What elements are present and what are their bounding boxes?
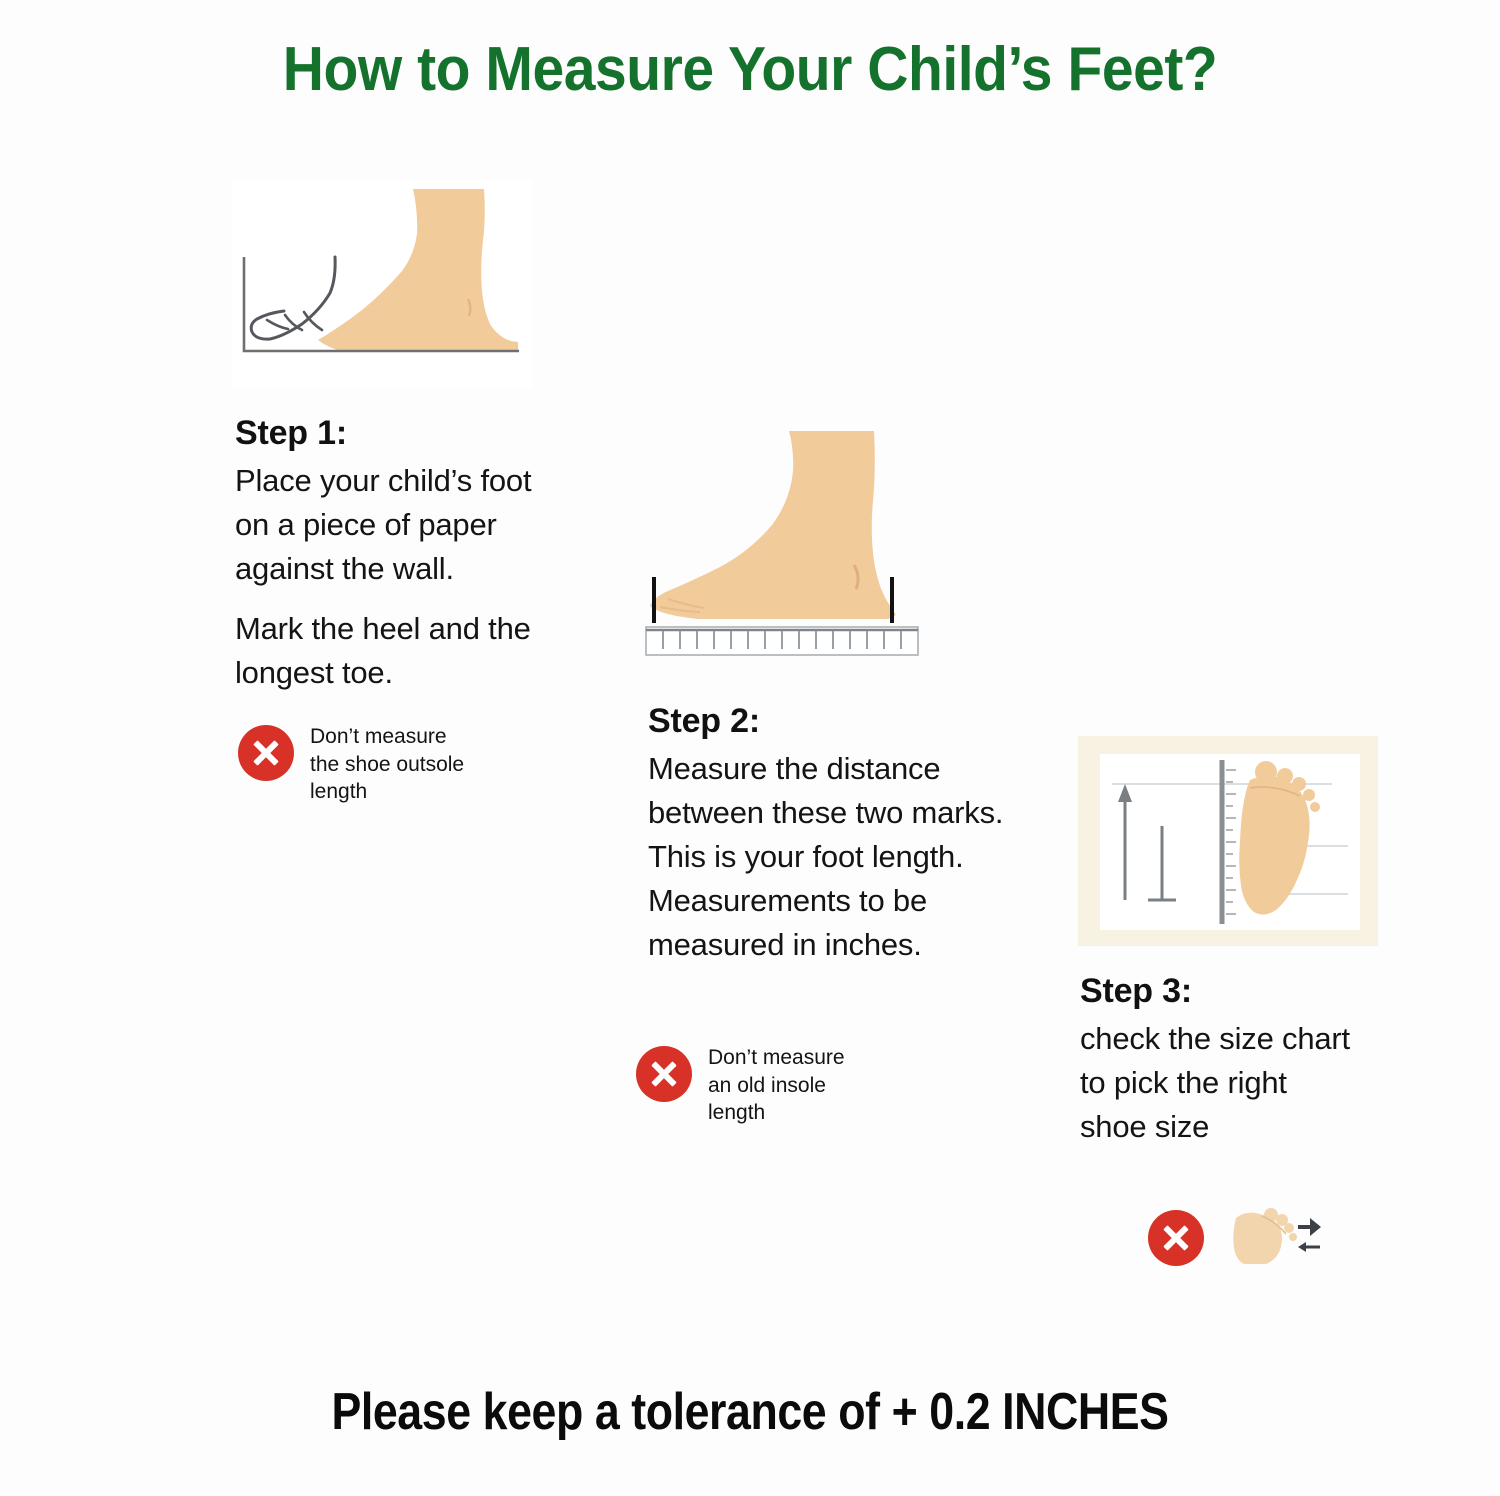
step-2-heading: Step 2:: [648, 702, 1088, 741]
red-x-circle-icon: [1148, 1210, 1204, 1266]
length-arrow-short: [1148, 826, 1176, 900]
step-1-heading: Step 1:: [235, 414, 555, 453]
step-2-warning-line-2: an old insole: [708, 1072, 845, 1100]
red-x-circle-icon: [636, 1046, 692, 1102]
step-2-line-5: measured in inches.: [648, 923, 1088, 967]
step-1-line-3: against the wall.: [235, 547, 555, 591]
tolerance-note: Please keep a tolerance of + 0.2 INCHES: [105, 1382, 1395, 1442]
step-2-body: Measure the distance between these two m…: [648, 747, 1088, 967]
step-2-warning-line-1: Don’t measure: [708, 1044, 845, 1072]
step-1-warning-line-1: Don’t measure: [310, 723, 464, 751]
step-2-block: Step 2: Measure the distance between the…: [648, 702, 1088, 967]
step-3-warning-glyphs: [1222, 1202, 1322, 1272]
foot-shape: [318, 189, 518, 351]
toe-3: [1292, 777, 1306, 791]
step-2-warning-line-3: length: [708, 1099, 845, 1127]
step-1-block: Step 1: Place your child’s foot on a pie…: [235, 414, 555, 695]
toe-2: [1277, 768, 1293, 784]
step-1-line-1: Place your child’s foot: [235, 459, 555, 503]
step-2-line-2: between these two marks.: [648, 791, 1088, 835]
step-1-line-5: longest toe.: [235, 651, 555, 695]
vertical-ruler-ticks: [1226, 770, 1236, 914]
step-1-warning: Don’t measure the shoe outsole length: [238, 723, 464, 806]
toe-4: [1303, 789, 1315, 801]
shoe-toe-detail-1: [267, 320, 288, 329]
size-guide-page: How to Measure Your Child’s Feet? Step 1…: [0, 0, 1500, 1496]
step-2-warning-text: Don’t measure an old insole length: [708, 1044, 845, 1127]
page-title: How to Measure Your Child’s Feet?: [60, 34, 1440, 105]
step-1-line-2: on a piece of paper: [235, 503, 555, 547]
foot-side-view-with-ruler-graphic: [638, 425, 938, 665]
toe-c: [1284, 1223, 1294, 1233]
toe-5: [1310, 802, 1320, 812]
footprint-squeeze-graphic: [1222, 1202, 1322, 1272]
step-3-body: check the size chart to pick the right s…: [1080, 1017, 1420, 1149]
footprint-on-measuring-board-graphic: [1100, 754, 1360, 930]
step-2-line-3: This is your foot length.: [648, 835, 1088, 879]
step-3-illustration: [1078, 736, 1378, 946]
step-2-warning: Don’t measure an old insole length: [636, 1044, 845, 1127]
toe-d: [1289, 1233, 1297, 1241]
step-3-line-1: check the size chart: [1080, 1017, 1420, 1061]
step-3-warning: [1148, 1202, 1322, 1272]
step-1-illustration: [232, 179, 532, 389]
arrow-right-icon: [1298, 1218, 1321, 1236]
length-arrow-long: [1118, 784, 1132, 900]
arrow-left-icon: [1298, 1242, 1320, 1252]
step-1-warning-text: Don’t measure the shoe outsole length: [310, 723, 464, 806]
red-x-circle-icon: [238, 725, 294, 781]
step-3-line-2: to pick the right: [1080, 1061, 1420, 1105]
step-2-line-4: Measurements to be: [648, 879, 1088, 923]
foot-shape: [650, 431, 896, 619]
step-1-warning-line-2: the shoe outsole: [310, 751, 464, 779]
step-3-line-3: shoe size: [1080, 1105, 1420, 1149]
step-3-board: [1100, 754, 1360, 930]
step-3-heading: Step 3:: [1080, 972, 1420, 1011]
step-3-block: Step 3: check the size chart to pick the…: [1080, 972, 1420, 1149]
step-2-illustration: [638, 425, 938, 665]
toe-big: [1255, 761, 1277, 783]
step-1-line-4: Mark the heel and the: [235, 607, 555, 651]
foot-side-view-against-wall-graphic: [232, 179, 532, 389]
shoe-outline: [251, 257, 335, 339]
step-2-line-1: Measure the distance: [648, 747, 1088, 791]
step-1-warning-line-3: length: [310, 778, 464, 806]
step-1-body: Place your child’s foot on a piece of pa…: [235, 459, 555, 695]
